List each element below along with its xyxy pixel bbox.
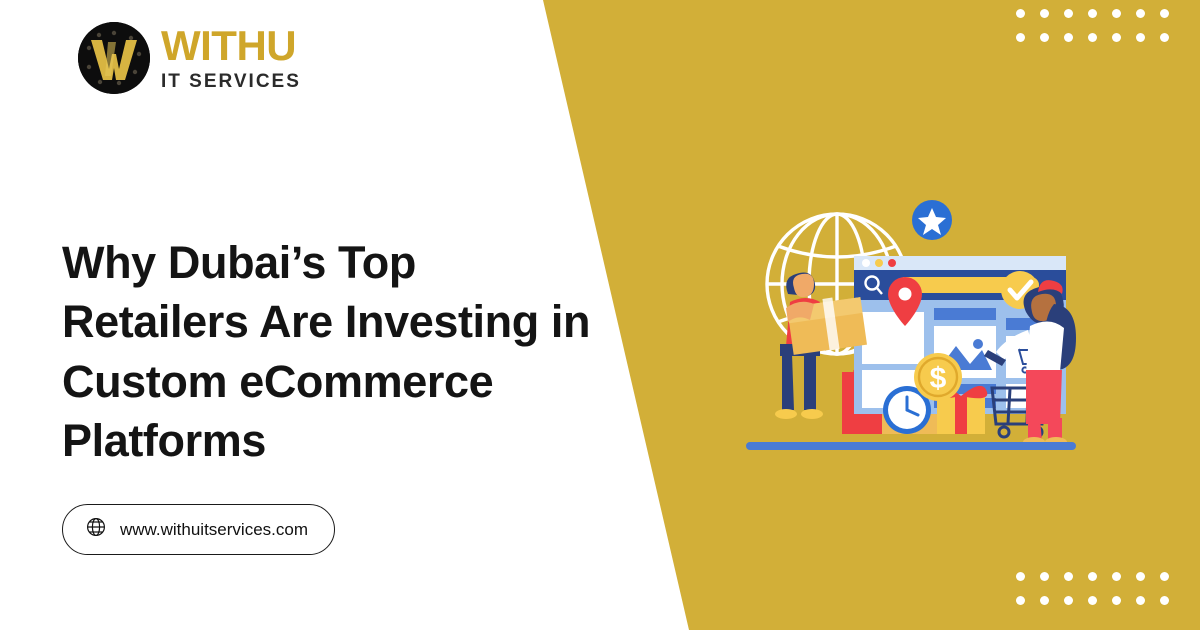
globe-icon	[85, 516, 107, 543]
ground-line	[746, 442, 1076, 450]
dot	[1136, 9, 1145, 18]
ecommerce-shopping-illustration: $	[742, 184, 1082, 454]
dot	[1040, 9, 1049, 18]
dot	[1016, 9, 1025, 18]
svg-text:$: $	[930, 362, 947, 395]
dollar-coin: $	[914, 353, 962, 401]
dot	[1160, 33, 1169, 42]
dot	[1064, 9, 1073, 18]
dot	[1016, 33, 1025, 42]
dot-grid-bottom-right	[1016, 572, 1169, 605]
dot	[1136, 572, 1145, 581]
dot	[1088, 596, 1097, 605]
dot	[1160, 9, 1169, 18]
brand-tagline: IT SERVICES	[161, 72, 301, 91]
dot	[1112, 9, 1121, 18]
dot	[1040, 596, 1049, 605]
website-url-text: www.withuitservices.com	[120, 520, 308, 540]
dot	[1136, 33, 1145, 42]
social-share-banner: WITHU IT SERVICES Why Dubai’s Top Retail…	[0, 0, 1200, 630]
website-url-pill[interactable]: www.withuitservices.com	[62, 504, 335, 555]
dot	[1112, 596, 1121, 605]
dot	[1136, 596, 1145, 605]
brand-logo[interactable]: WITHU IT SERVICES	[78, 22, 301, 94]
dot	[1064, 33, 1073, 42]
star-badge	[912, 200, 952, 240]
dot	[1160, 596, 1169, 605]
dot	[1016, 596, 1025, 605]
dot	[1112, 33, 1121, 42]
dot	[1016, 572, 1025, 581]
dot	[1160, 572, 1169, 581]
dot	[1064, 596, 1073, 605]
dot	[1088, 572, 1097, 581]
dot-grid-top-right	[1016, 9, 1169, 42]
dot	[1040, 572, 1049, 581]
brand-name: WITHU	[161, 25, 301, 67]
dot	[1088, 9, 1097, 18]
page-title: Why Dubai’s Top Retailers Are Investing …	[62, 233, 592, 471]
dot	[1088, 33, 1097, 42]
dot	[1112, 572, 1121, 581]
dot	[1064, 572, 1073, 581]
dot	[1040, 33, 1049, 42]
withu-w-monogram-icon	[78, 22, 150, 94]
